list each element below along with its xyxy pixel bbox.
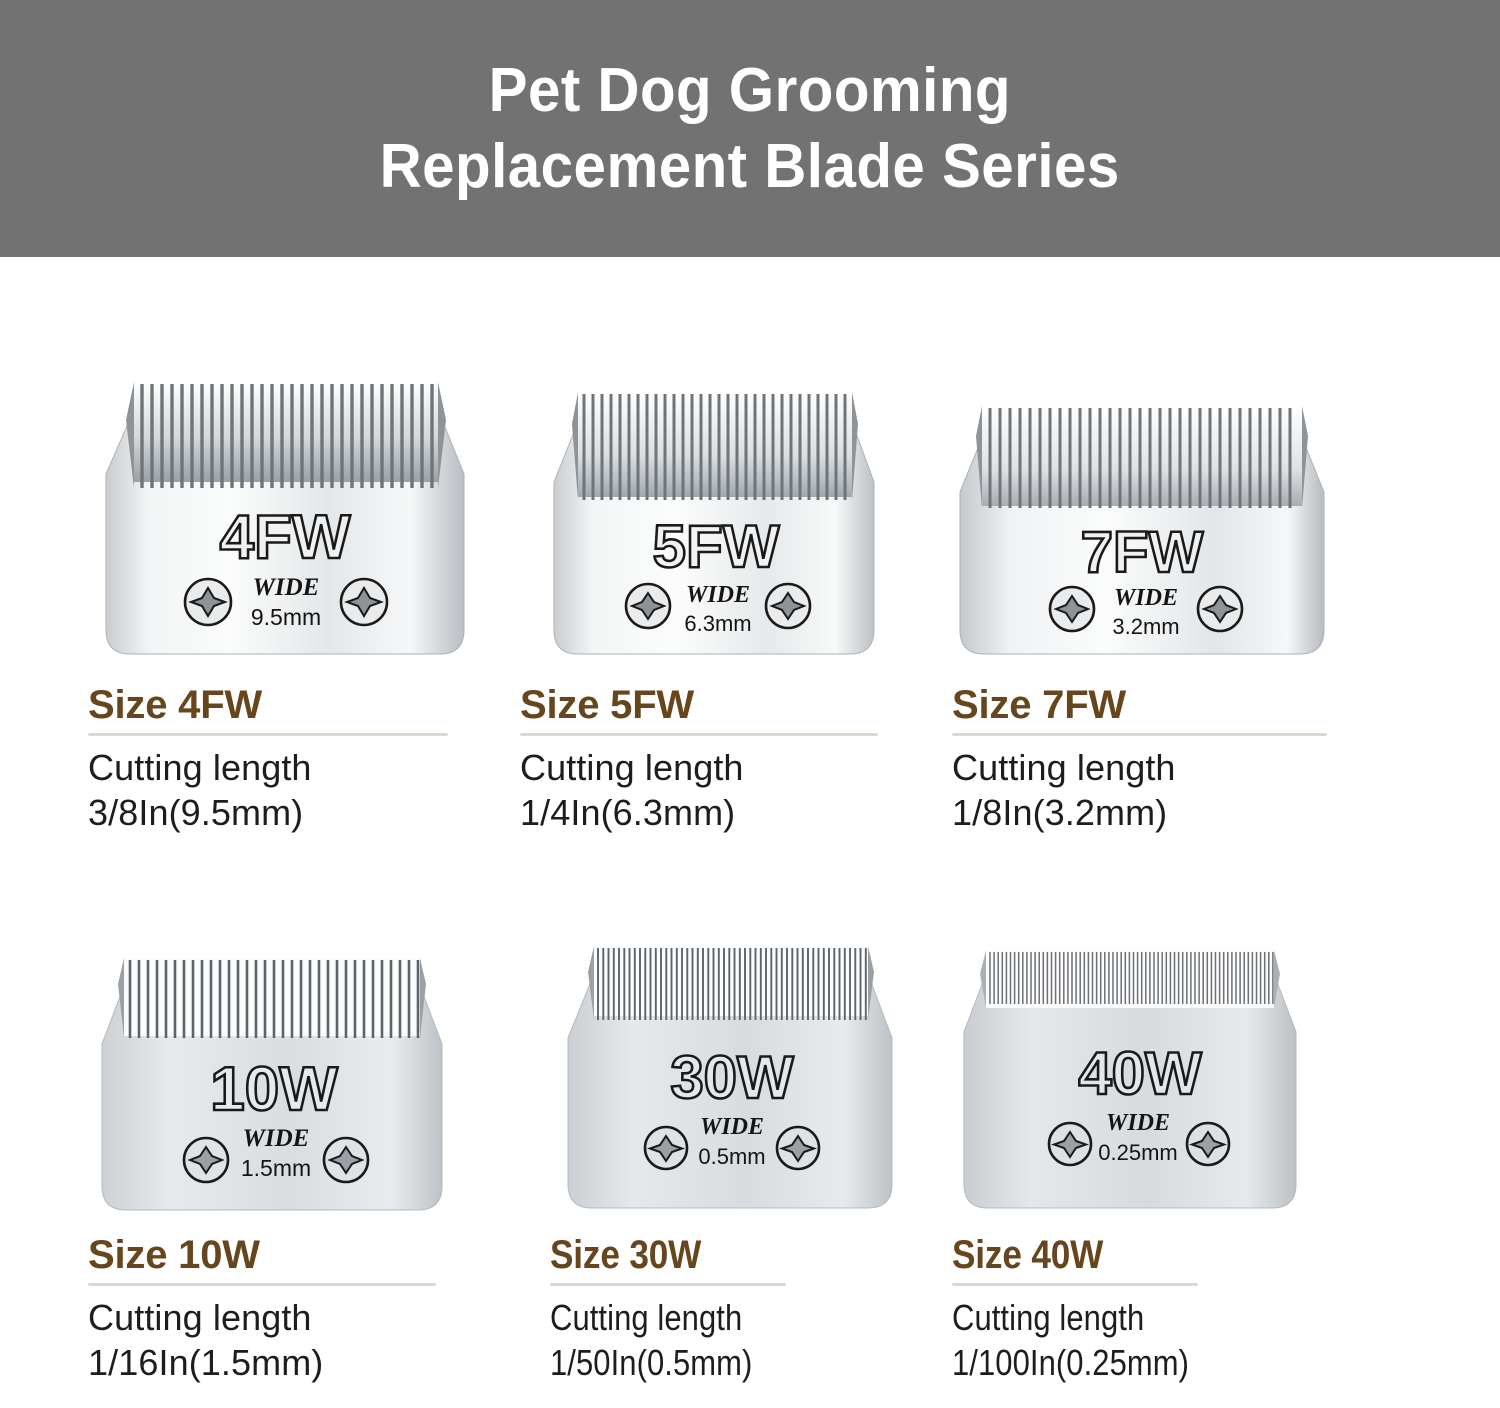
blade-image-40w: 40W WIDE 0.25mm bbox=[952, 932, 1392, 1232]
blade-card-10w: 10W WIDE 1.5mm Size 10W Cutting length 1… bbox=[88, 932, 528, 1385]
title-divider bbox=[952, 733, 1327, 736]
blade-info-5fw: Size 5FW Cutting length 1/4In(6.3mm) bbox=[520, 682, 960, 835]
cutting-length-value: 1/8In(3.2mm) bbox=[952, 790, 1392, 835]
blade-engraving-size: 4FW bbox=[220, 503, 351, 572]
blade-illustration: 4FW WIDE 9.5mm bbox=[88, 362, 488, 672]
cutting-length-label: Cutting length bbox=[952, 1295, 1330, 1340]
title-divider bbox=[88, 733, 448, 736]
blade-info-4fw: Size 4FW Cutting length 3/8In(9.5mm) bbox=[88, 682, 528, 835]
page-title-line-2: Replacement Blade Series bbox=[380, 129, 1120, 205]
blade-engraving-wide: WIDE bbox=[686, 582, 750, 608]
cutting-length-value: 1/4In(6.3mm) bbox=[520, 790, 960, 835]
cutting-length-label: Cutting length bbox=[952, 745, 1392, 790]
title-divider bbox=[88, 1283, 436, 1286]
blade-size-title: Size 30W bbox=[550, 1232, 937, 1278]
blade-illustration: 7FW WIDE 3.2mm bbox=[952, 362, 1352, 672]
blade-engraving-size: 10W bbox=[210, 1055, 338, 1124]
blade-engraving-mm: 9.5mm bbox=[251, 604, 321, 630]
blade-size-title: Size 7FW bbox=[952, 682, 1392, 728]
blade-info-30w: Size 30W Cutting length 1/50In(0.5mm) bbox=[550, 1232, 990, 1385]
cutting-length-value: 1/16In(1.5mm) bbox=[88, 1340, 528, 1385]
blade-image-5fw: 5FW WIDE 6.3mm bbox=[520, 362, 960, 682]
blade-size-title: Size 4FW bbox=[88, 682, 528, 728]
blade-info-7fw: Size 7FW Cutting length 1/8In(3.2mm) bbox=[952, 682, 1392, 835]
blade-size-title: Size 10W bbox=[88, 1232, 528, 1278]
title-divider bbox=[952, 1283, 1198, 1286]
cutting-length-label: Cutting length bbox=[550, 1295, 928, 1340]
blade-card-40w: 40W WIDE 0.25mm Size 40W Cutting length … bbox=[952, 932, 1392, 1385]
blade-card-30w: 30W WIDE 0.5mm Size 30W Cutting length 1… bbox=[550, 932, 990, 1385]
page-title-line-1: Pet Dog Grooming bbox=[489, 53, 1011, 129]
blade-card-5fw: 5FW WIDE 6.3mm Size 5FW Cutting length 1… bbox=[520, 362, 960, 835]
blade-illustration: 5FW WIDE 6.3mm bbox=[520, 362, 920, 672]
blade-engraving-size: 7FW bbox=[1081, 520, 1204, 585]
blade-grid: 4FW WIDE 9.5mm Size 4FW Cutting length 3… bbox=[0, 257, 1500, 1408]
blade-image-7fw: 7FW WIDE 3.2mm bbox=[952, 362, 1392, 682]
blade-engraving-size: 30W bbox=[670, 1044, 794, 1111]
blade-engraving-wide: WIDE bbox=[700, 1114, 764, 1140]
blade-image-10w: 10W WIDE 1.5mm bbox=[88, 932, 528, 1232]
blade-engraving-size: 40W bbox=[1078, 1040, 1202, 1107]
blade-engraving-wide: WIDE bbox=[1114, 585, 1178, 611]
blade-illustration: 10W WIDE 1.5mm bbox=[88, 932, 478, 1232]
blade-engraving-wide: WIDE bbox=[1106, 1110, 1170, 1136]
blade-engraving-mm: 0.5mm bbox=[698, 1144, 765, 1169]
blade-engraving-mm: 6.3mm bbox=[684, 611, 751, 636]
title-divider bbox=[550, 1283, 786, 1286]
blade-info-10w: Size 10W Cutting length 1/16In(1.5mm) bbox=[88, 1232, 528, 1385]
cutting-length-label: Cutting length bbox=[88, 1295, 528, 1340]
blade-card-4fw: 4FW WIDE 9.5mm Size 4FW Cutting length 3… bbox=[88, 362, 528, 835]
blade-card-7fw: 7FW WIDE 3.2mm Size 7FW Cutting length 1… bbox=[952, 362, 1392, 835]
cutting-length-value: 1/50In(0.5mm) bbox=[550, 1340, 928, 1385]
blade-engraving-mm: 1.5mm bbox=[241, 1155, 311, 1181]
blade-size-title: Size 40W bbox=[952, 1232, 1339, 1278]
blade-engraving-size: 5FW bbox=[653, 513, 780, 580]
title-divider bbox=[520, 733, 878, 736]
page-header-banner: Pet Dog Grooming Replacement Blade Serie… bbox=[0, 0, 1500, 257]
blade-illustration: 30W WIDE 0.5mm bbox=[550, 932, 920, 1232]
blade-engraving-wide: WIDE bbox=[243, 1125, 310, 1152]
blade-size-title: Size 5FW bbox=[520, 682, 960, 728]
blade-image-4fw: 4FW WIDE 9.5mm bbox=[88, 362, 528, 682]
blade-image-30w: 30W WIDE 0.5mm bbox=[550, 932, 990, 1232]
blade-engraving-mm: 3.2mm bbox=[1112, 614, 1179, 639]
cutting-length-value: 3/8In(9.5mm) bbox=[88, 790, 528, 835]
blade-illustration: 40W WIDE 0.25mm bbox=[952, 932, 1322, 1232]
blade-info-40w: Size 40W Cutting length 1/100In(0.25mm) bbox=[952, 1232, 1392, 1385]
cutting-length-value: 1/100In(0.25mm) bbox=[952, 1340, 1330, 1385]
blade-engraving-mm: 0.25mm bbox=[1098, 1140, 1177, 1165]
cutting-length-label: Cutting length bbox=[88, 745, 528, 790]
cutting-length-label: Cutting length bbox=[520, 745, 960, 790]
blade-engraving-wide: WIDE bbox=[253, 574, 320, 601]
